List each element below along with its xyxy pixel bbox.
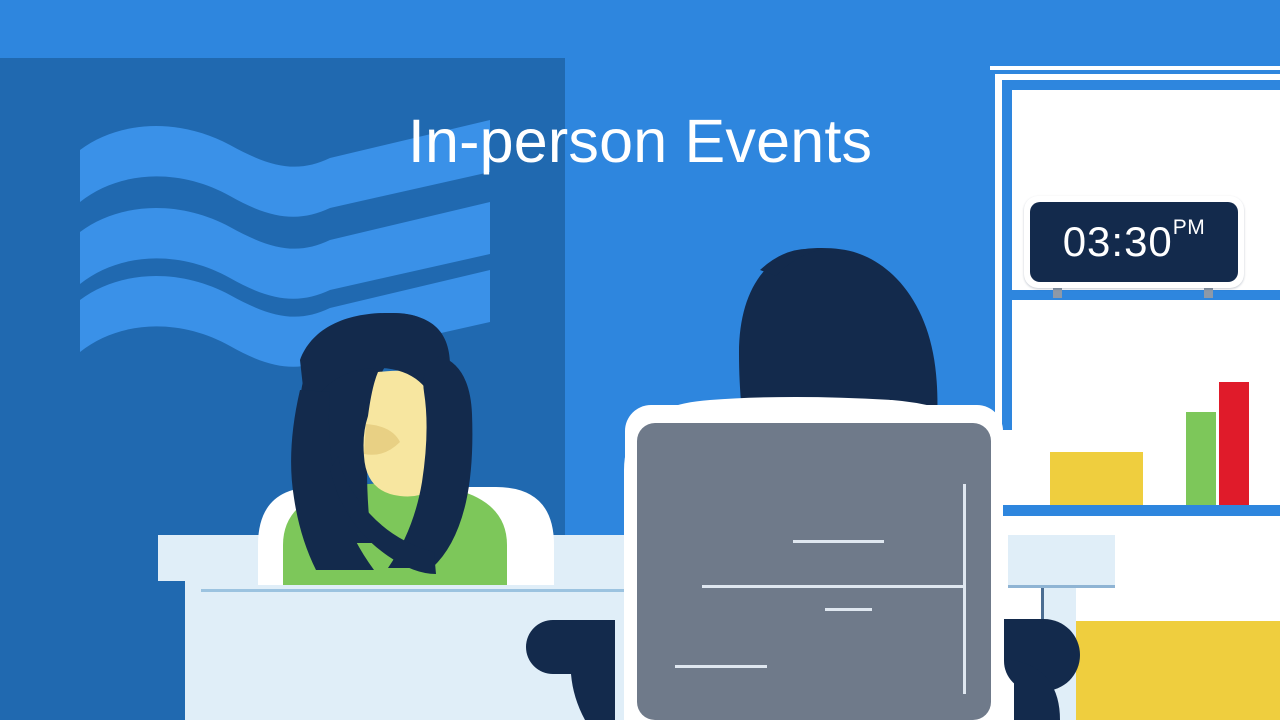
shelf-divider-top	[1002, 290, 1280, 300]
clock-foot-right	[1204, 288, 1213, 298]
shelf-frame-left-outer	[990, 70, 995, 430]
shelf-frame-top	[1002, 80, 1280, 90]
yellow-box	[1050, 452, 1143, 505]
green-bar	[1186, 412, 1216, 505]
laptop-line-4	[675, 665, 767, 668]
laptop-lid	[625, 405, 1003, 720]
laptop-line-vertical	[963, 484, 966, 694]
scene-artwork	[0, 0, 1280, 720]
desk-divider-line	[201, 589, 640, 592]
shelf-divider-bottom	[1002, 505, 1280, 516]
shelf-frame-outline	[990, 70, 1280, 74]
side-table-top-edge	[1008, 585, 1115, 588]
clock-display: 03:30 PM	[1030, 202, 1238, 282]
red-bar	[1219, 382, 1249, 505]
clock-meridiem: PM	[1173, 216, 1206, 240]
shelf-frame-left-inner	[1002, 80, 1012, 430]
clock-time: 03:30	[1063, 218, 1173, 266]
digital-clock: 03:30 PM	[1024, 196, 1244, 288]
laptop-lid-screen	[637, 423, 991, 720]
laptop-line-1	[793, 540, 884, 543]
yellow-chair-seat	[1076, 621, 1280, 720]
laptop-line-2	[702, 585, 964, 588]
side-table-top	[1008, 535, 1115, 587]
illustration-scene: 03:30 PM In-person Events	[0, 0, 1280, 720]
clock-foot-left	[1053, 288, 1062, 298]
laptop-line-3	[825, 608, 872, 611]
